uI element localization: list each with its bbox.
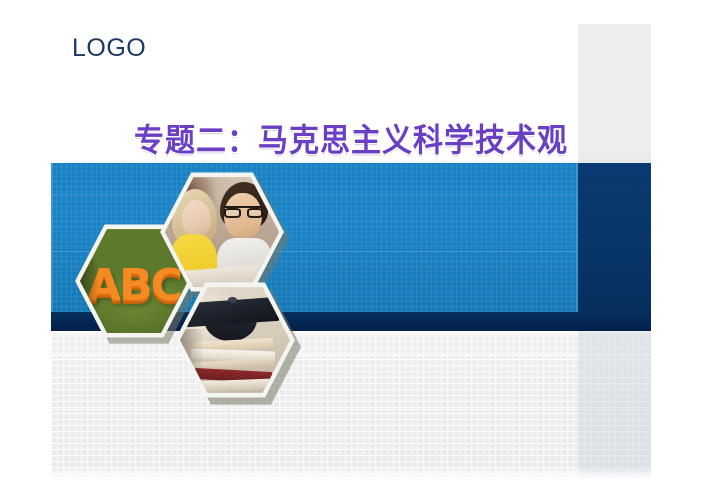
girl-face xyxy=(182,200,211,236)
slide-title-container: 专题二：马克思主义科学技术观 xyxy=(51,112,651,162)
logo-text[interactable]: LOGO xyxy=(72,36,146,61)
graduation-cap-button xyxy=(228,297,237,303)
eyeglasses xyxy=(224,206,263,219)
bottom-texture-panel xyxy=(51,331,651,480)
blue-panel-right-edge xyxy=(576,163,578,312)
bottom-panel-rule-1 xyxy=(51,355,651,356)
gray-accent-strip xyxy=(578,24,651,163)
blue-panel-rule-1 xyxy=(51,194,578,195)
bottom-panel-rule-3 xyxy=(51,409,651,410)
presentation-slide: LOGO 专题二：马克思主义科学技术观 ABC xyxy=(0,0,702,496)
bottom-panel-right-tint xyxy=(578,331,651,480)
bottom-panel-fade xyxy=(51,466,651,480)
slide-title: 专题二：马克思主义科学技术观 xyxy=(134,114,568,161)
bottom-panel-rule-2 xyxy=(51,383,651,384)
blue-panel-left-edge xyxy=(51,163,53,312)
